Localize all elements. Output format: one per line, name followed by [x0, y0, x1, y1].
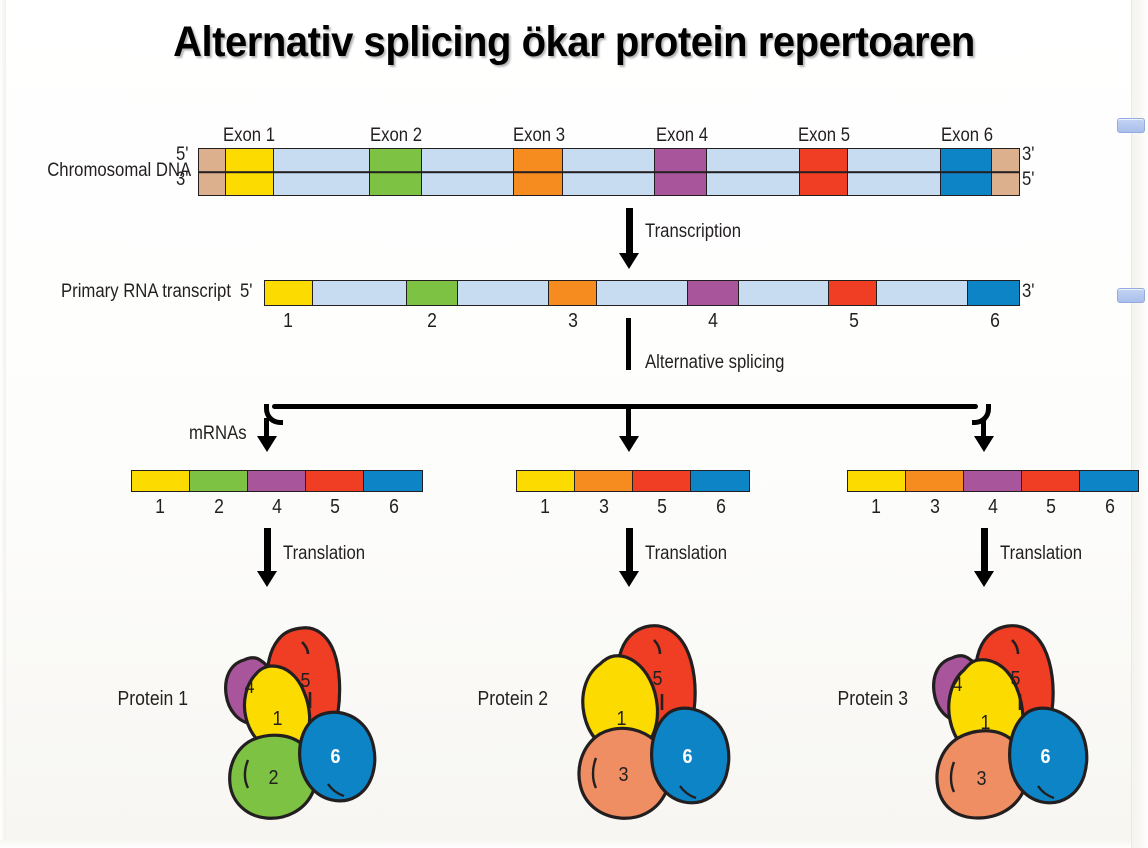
protein-1-domain-1-number: 1 — [273, 708, 283, 731]
translation-arrow-2-shaft — [626, 528, 633, 576]
rna-exon-number: 4 — [687, 310, 740, 333]
chromosomal-dna-label: Chromosomal DNA — [47, 160, 166, 182]
rail-handle-top[interactable] — [1117, 118, 1145, 133]
slide-canvas: Alternativ splicing ökar protein reperto… — [0, 0, 1148, 848]
segment-exon-5 — [306, 471, 364, 491]
protein-2-domain-3-number: 3 — [619, 764, 629, 787]
mrna-exon-number: 5 — [309, 496, 362, 519]
rna-five-prime: 5' — [240, 281, 252, 303]
mrna-exon-number: 1 — [850, 496, 903, 519]
protein-1-figure: 4 5 1 2 6 — [200, 612, 420, 820]
transcription-label: Transcription — [645, 221, 741, 243]
mrna-exon-number: 5 — [1025, 496, 1078, 519]
protein-3-domain-5-number: 5 — [1011, 668, 1021, 691]
primary-rna-transcript-label: Primary RNA transcript — [55, 281, 231, 303]
segment-exon-3 — [906, 471, 964, 491]
translation-arrow-2-head — [619, 571, 639, 587]
mrna-exon-number: 3 — [908, 496, 961, 519]
segment-exon-6 — [1080, 471, 1138, 491]
protein-1-label: Protein 1 — [111, 688, 188, 711]
dna-exon-title: Exon 6 — [915, 125, 1021, 147]
dna-exon-title: Exon 4 — [629, 125, 735, 147]
mrna-bar-2 — [516, 470, 750, 492]
segment-exon-1 — [265, 281, 313, 305]
protein-2-domain-5-number: 5 — [653, 668, 663, 691]
splicing-branch-bar — [272, 404, 978, 409]
segment-intron-2 — [422, 149, 514, 195]
right-scroll-rail[interactable] — [1131, 0, 1148, 848]
translation-arrow-1-shaft — [264, 528, 271, 576]
translation-arrow-3-shaft — [981, 528, 988, 576]
segment-exon-4 — [964, 471, 1022, 491]
segment-exon-3 — [575, 471, 633, 491]
segment-exon-4 — [655, 149, 707, 195]
dna-three-prime-right: 3' — [1022, 144, 1034, 166]
protein-3-svg — [912, 612, 1132, 820]
segment-flank-right — [992, 149, 1019, 195]
mrna-exon-number: 4 — [967, 496, 1020, 519]
protein-2-svg — [556, 612, 776, 820]
mrna-arrow-2-head — [619, 436, 639, 452]
segment-intron-3 — [597, 281, 688, 305]
protein-1-svg — [200, 612, 420, 820]
protein-2-domain-6-number: 6 — [683, 746, 693, 769]
segment-exon-4 — [248, 471, 306, 491]
segment-intron-1 — [313, 281, 407, 305]
alternative-splicing-label: Alternative splicing — [645, 352, 784, 374]
segment-exon-4 — [688, 281, 739, 305]
transcription-arrow-shaft — [626, 208, 633, 258]
protein-2-label: Protein 2 — [471, 688, 548, 711]
mrna-exon-number: 1 — [519, 496, 572, 519]
segment-exon-6 — [941, 149, 993, 195]
mrna-exon-number: 4 — [251, 496, 304, 519]
segment-exon-6 — [968, 281, 1019, 305]
segment-exon-5 — [633, 471, 691, 491]
rna-three-prime: 3' — [1022, 281, 1034, 303]
rna-exon-number: 6 — [968, 310, 1021, 333]
rna-exon-number: 3 — [546, 310, 599, 333]
mrna-exon-number: 6 — [367, 496, 420, 519]
segment-exon-6 — [364, 471, 422, 491]
protein-1-domain-2-number: 2 — [269, 767, 279, 790]
mrna-arrow-3-head — [974, 436, 994, 452]
translation-arrow-3-head — [974, 571, 994, 587]
mrna-exon-number: 6 — [1083, 496, 1136, 519]
segment-exon-1 — [517, 471, 575, 491]
slide-bottom-edge — [0, 840, 1148, 848]
mrna-bar-3 — [847, 470, 1139, 492]
translation-label-2: Translation — [645, 543, 727, 565]
protein-3-label: Protein 3 — [831, 688, 908, 711]
segment-intron-5 — [848, 149, 940, 195]
dna-exon-title: Exon 3 — [486, 125, 592, 147]
dna-exon-title: Exon 5 — [772, 125, 878, 147]
mrna-bar-1 — [131, 470, 423, 492]
segment-exon-3 — [549, 281, 597, 305]
mrna-exon-number: 2 — [192, 496, 245, 519]
segment-intron-4 — [739, 281, 830, 305]
segment-intron-4 — [707, 149, 799, 195]
rna-exon-number: 1 — [262, 310, 315, 333]
mrna-exon-number: 1 — [134, 496, 187, 519]
segment-exon-1 — [226, 149, 275, 195]
translation-arrow-1-head — [257, 571, 277, 587]
segment-intron-3 — [563, 149, 655, 195]
segment-exon-6 — [691, 471, 749, 491]
segment-flank-left — [199, 149, 226, 195]
translation-label-1: Translation — [283, 543, 365, 565]
protein-3-domain-4-number: 4 — [953, 674, 963, 697]
segment-exon-2 — [190, 471, 248, 491]
rna-exon-number: 2 — [406, 310, 459, 333]
segment-intron-2 — [458, 281, 549, 305]
splicing-stem-upper — [626, 318, 631, 370]
protein-3-domain-1-number: 1 — [981, 712, 991, 735]
dna-exon-title: Exon 1 — [196, 125, 302, 147]
protein-1-domain-4-number: 4 — [245, 676, 255, 699]
segment-intron-1 — [274, 149, 370, 195]
segment-intron-5 — [877, 281, 968, 305]
slide-left-edge — [0, 0, 6, 848]
protein-1-domain-6-number: 6 — [331, 746, 341, 769]
dna-three-prime-left: 3' — [176, 169, 188, 191]
protein-1-domain-5-number: 5 — [301, 670, 311, 693]
segment-exon-1 — [132, 471, 190, 491]
protein-3-domain-3-number: 3 — [977, 768, 987, 791]
mrna-exon-number: 5 — [636, 496, 689, 519]
mrnas-label: mRNAs — [189, 423, 247, 445]
protein-3-domain-6-number: 6 — [1041, 746, 1051, 769]
translation-label-3: Translation — [1000, 543, 1082, 565]
segment-exon-2 — [370, 149, 422, 195]
mrna-arrow-2-shaft — [626, 404, 631, 440]
dna-five-prime-left: 5' — [176, 144, 188, 166]
dna-five-prime-right: 5' — [1022, 169, 1034, 191]
transcription-arrow-head — [619, 253, 639, 269]
mrna-arrow-1-head — [257, 436, 277, 452]
protein-2-domain-1-number: 1 — [617, 708, 627, 731]
protein-2-figure: 5 1 3 6 — [556, 612, 776, 820]
segment-exon-3 — [514, 149, 563, 195]
segment-exon-5 — [829, 281, 877, 305]
dna-exon-title: Exon 2 — [343, 125, 449, 147]
protein-3-figure: 4 5 1 3 6 — [912, 612, 1132, 820]
rail-handle-bottom[interactable] — [1117, 288, 1145, 303]
mrna-exon-number: 3 — [577, 496, 630, 519]
chromosomal-dna-bar — [198, 148, 1020, 196]
segment-exon-5 — [1022, 471, 1080, 491]
primary-rna-bar — [264, 280, 1020, 306]
segment-exon-5 — [800, 149, 849, 195]
segment-exon-1 — [848, 471, 906, 491]
mrna-exon-number: 6 — [694, 496, 747, 519]
page-title: Alternativ splicing ökar protein reperto… — [40, 18, 1108, 67]
segment-exon-2 — [407, 281, 458, 305]
rna-exon-number: 5 — [828, 310, 881, 333]
